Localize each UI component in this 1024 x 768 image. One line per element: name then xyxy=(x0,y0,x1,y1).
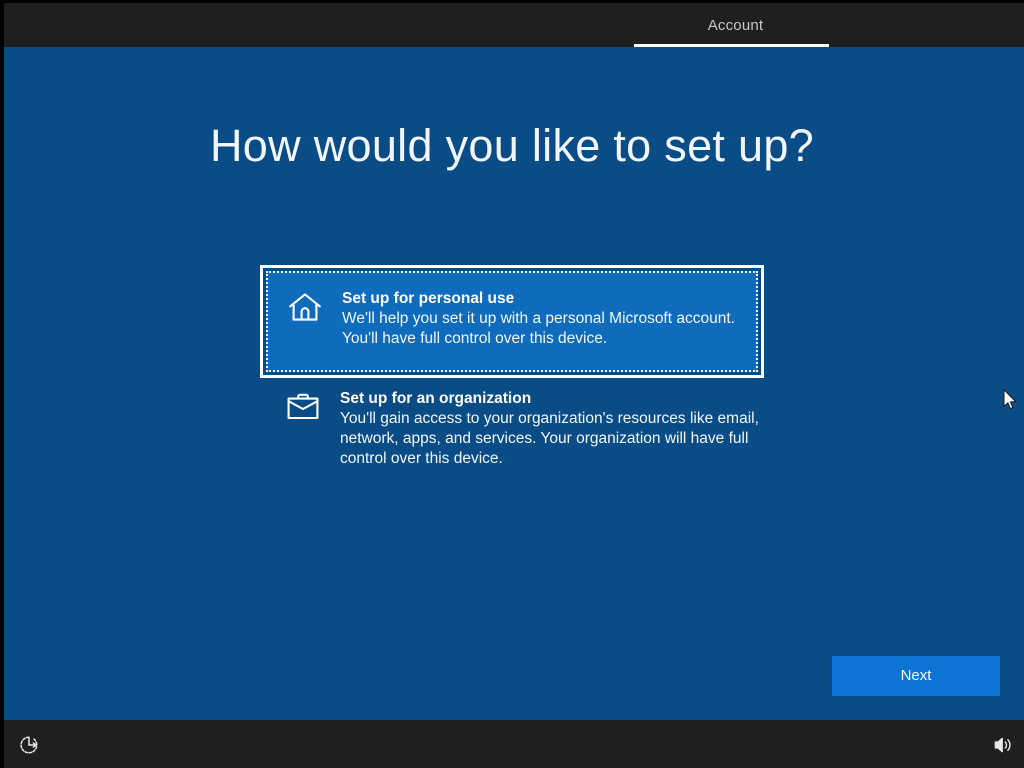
option-organization-row: Set up for an organization You'll gain a… xyxy=(283,389,781,469)
bottom-chrome-bar xyxy=(0,720,1024,768)
ease-of-access-icon xyxy=(19,735,39,755)
ease-of-access-button[interactable] xyxy=(16,732,42,758)
next-button[interactable]: Next xyxy=(832,656,1000,696)
option-personal-use-description-line-2: You'll have full control over this devic… xyxy=(342,329,746,349)
tab-account-label: Account xyxy=(708,18,764,35)
option-organization-description-line-2: network, apps, and services. Your organi… xyxy=(340,429,781,449)
option-personal-use-row: Set up for personal use We'll help you s… xyxy=(285,289,746,349)
option-personal-use-title: Set up for personal use xyxy=(342,290,514,307)
option-organization-description: You'll gain access to your organization'… xyxy=(340,409,781,469)
briefcase-icon xyxy=(283,392,323,428)
home-icon xyxy=(285,292,325,328)
volume-speaker-icon xyxy=(993,735,1013,755)
setup-options-list: Set up for personal use We'll help you s… xyxy=(260,265,764,472)
option-organization-text: Set up for an organization You'll gain a… xyxy=(340,389,781,469)
option-personal-use-text: Set up for personal use We'll help you s… xyxy=(342,289,746,349)
option-organization-description-line-3: control over this device. xyxy=(340,449,781,469)
setup-stage: How would you like to set up? xyxy=(4,47,1024,720)
option-organization-title: Set up for an organization xyxy=(340,390,531,407)
option-organization-description-line-1: You'll gain access to your organization'… xyxy=(340,409,781,429)
page-title: How would you like to set up? xyxy=(4,120,1020,172)
top-chrome-bar: Account xyxy=(0,0,1024,47)
tab-account[interactable]: Account xyxy=(638,3,833,50)
oobe-screen: Account How would you like to set up? xyxy=(0,0,1024,768)
option-personal-use-description-line-1: We'll help you set it up with a personal… xyxy=(342,309,746,329)
option-organization[interactable]: Set up for an organization You'll gain a… xyxy=(260,386,764,472)
option-personal-use[interactable]: Set up for personal use We'll help you s… xyxy=(260,265,764,378)
volume-button[interactable] xyxy=(990,732,1016,758)
option-personal-use-description: We'll help you set it up with a personal… xyxy=(342,309,746,349)
option-personal-use-focus-ring: Set up for personal use We'll help you s… xyxy=(266,271,758,372)
